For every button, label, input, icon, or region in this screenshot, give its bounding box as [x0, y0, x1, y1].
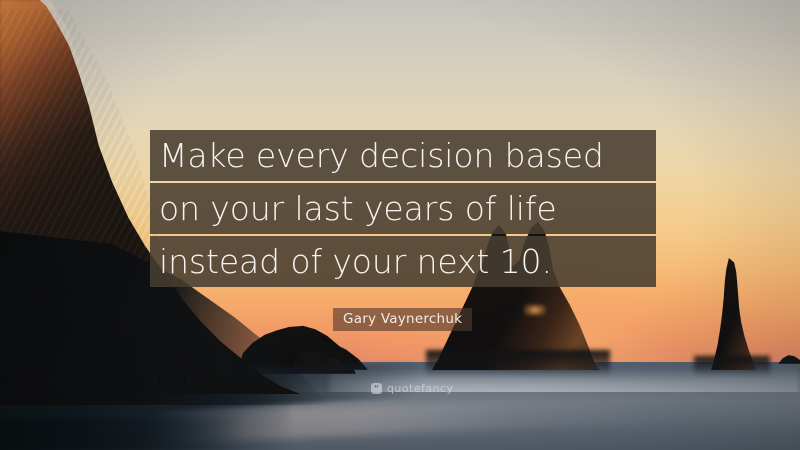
quotefancy-watermark: “ quotefancy: [371, 382, 453, 395]
beach-figure: [88, 375, 90, 382]
beach-figure: [72, 373, 74, 381]
quote-mark-badge-icon: “: [371, 383, 382, 394]
beach-figure: [132, 376, 134, 383]
beach-figure: [158, 375, 160, 383]
quote-text-block: Make every decision based on your last y…: [150, 130, 656, 289]
quote-card: Make every decision based on your last y…: [0, 0, 800, 450]
beach-figure: [184, 377, 186, 384]
watermark-label: quotefancy: [387, 382, 453, 395]
beach-figure: [60, 374, 62, 381]
quote-line-1: Make every decision based: [150, 130, 656, 181]
quote-author: Gary Vaynerchuk: [333, 308, 472, 331]
beach-figure: [108, 374, 110, 382]
quote-line-2: on your last years of life: [150, 183, 656, 234]
quote-line-3: instead of your next 10.: [150, 236, 656, 287]
